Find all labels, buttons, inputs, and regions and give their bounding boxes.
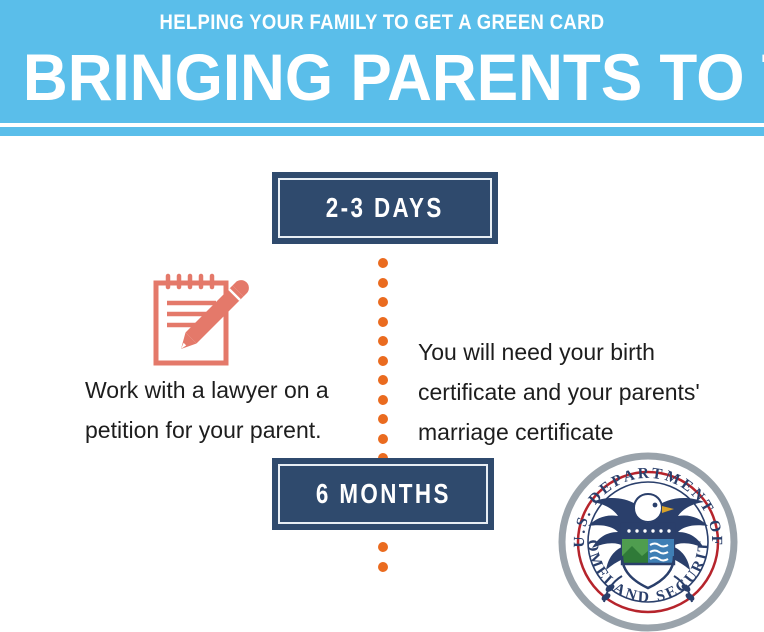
dhs-seal-icon: U.S. DEPARTMENT OF HOMELAND SECURITY xyxy=(558,452,738,632)
page-header: HELPING YOUR FAMILY TO GET A GREEN CARD … xyxy=(0,0,764,136)
page-title: BRINGING PARENTS TO THE US xyxy=(23,44,741,110)
badge-label-step-1: 2-3 DAYS xyxy=(326,192,444,224)
badge-inner-border: 2-3 DAYS xyxy=(278,178,492,238)
timeline-dot xyxy=(378,542,388,552)
timeline-dot xyxy=(378,434,388,444)
timeline-badge-step-1[interactable]: 2-3 DAYS xyxy=(272,172,498,244)
timeline-dot xyxy=(378,375,388,385)
timeline-dot xyxy=(378,278,388,288)
step-1-right-description: You will need your birth certificate and… xyxy=(418,332,708,452)
timeline-dots-segment-one xyxy=(378,258,388,456)
header-kicker: HELPING YOUR FAMILY TO GET A GREEN CARD xyxy=(46,11,718,35)
timeline-dot xyxy=(378,395,388,405)
notepad-pencil-icon xyxy=(150,272,250,368)
step-1-left-description: Work with a lawyer on a petition for you… xyxy=(85,370,375,450)
timeline-dot xyxy=(378,356,388,366)
header-divider xyxy=(0,123,764,127)
timeline-badge-step-2[interactable]: 6 MONTHS xyxy=(272,458,494,530)
badge-inner-border: 6 MONTHS xyxy=(278,464,488,524)
timeline-dot xyxy=(378,297,388,307)
badge-label-step-2: 6 MONTHS xyxy=(316,478,451,510)
timeline-dots-segment-two xyxy=(378,542,388,572)
timeline-dot xyxy=(378,562,388,572)
timeline-dot xyxy=(378,317,388,327)
timeline-dot xyxy=(378,414,388,424)
timeline-dot xyxy=(378,258,388,268)
timeline-dot xyxy=(378,336,388,346)
